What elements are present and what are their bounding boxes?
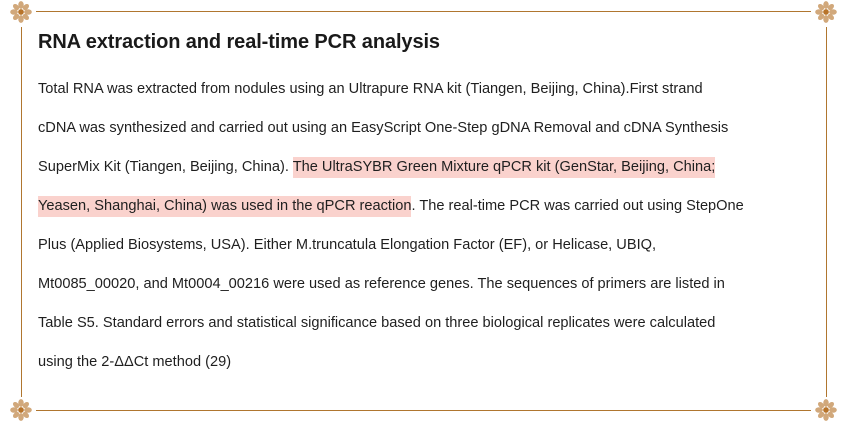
body-paragraph: Total RNA was extracted from nodules usi… [38,70,816,382]
text-run: Total RNA was extracted from nodules usi… [38,81,703,97]
document-content: RNA extraction and real-time PCR analysi… [38,30,818,382]
border-rule-right [826,27,827,397]
text-line: Total RNA was extracted from nodules usi… [38,70,816,109]
text-run: Table S5. Standard errors and statistica… [38,315,715,331]
text-run: . The real-time PCR was carried out usin… [411,198,743,214]
text-run: cDNA was synthesized and carried out usi… [38,120,728,136]
highlighted-text: Yeasen, Shanghai, China) was used in the… [38,196,411,217]
text-run: SuperMix Kit (Tiangen, Beijing, China). [38,159,293,175]
document-page: RNA extraction and real-time PCR analysi… [0,0,847,425]
text-line: using the 2-ΔΔCt method (29) [38,343,816,382]
border-rule-left [21,27,22,397]
border-rule-top [36,11,811,12]
text-line: Plus (Applied Biosystems, USA). Either M… [38,226,816,265]
flower-rosette-icon [815,399,837,421]
text-line: Table S5. Standard errors and statistica… [38,304,816,343]
text-run: using the 2-ΔΔCt method (29) [38,354,231,370]
text-line: Yeasen, Shanghai, China) was used in the… [38,187,816,226]
highlighted-text: The UltraSYBR Green Mixture qPCR kit (Ge… [293,157,716,178]
flower-rosette-icon [10,1,32,23]
text-run: Mt0085_00020, and Mt0004_00216 were used… [38,276,725,292]
flower-rosette-icon [10,399,32,421]
border-rule-bottom [36,410,811,411]
text-line: cDNA was synthesized and carried out usi… [38,109,816,148]
text-run: Plus (Applied Biosystems, USA). Either M… [38,237,656,253]
flower-rosette-icon [815,1,837,23]
page-title: RNA extraction and real-time PCR analysi… [38,30,818,54]
text-line: Mt0085_00020, and Mt0004_00216 were used… [38,265,816,304]
text-line: SuperMix Kit (Tiangen, Beijing, China). … [38,148,816,187]
